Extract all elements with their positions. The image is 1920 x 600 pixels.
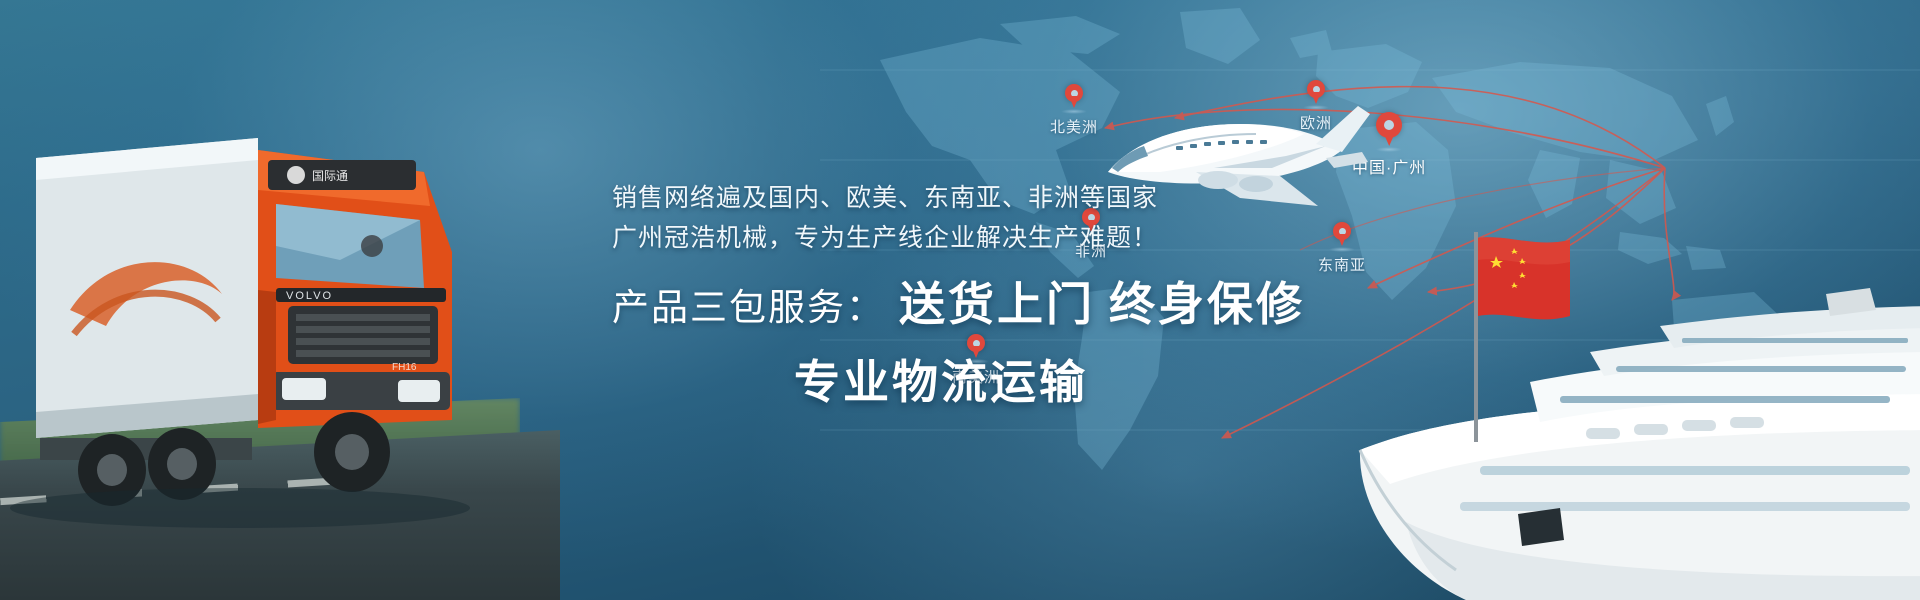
location-pin-icon — [1376, 112, 1402, 146]
delivery-truck-image: 国际通 VOLVO — [0, 120, 520, 600]
headline-lead-text: 产品三包服务： — [612, 277, 885, 331]
svg-text:FH16: FH16 — [392, 362, 417, 373]
headline-strong-delivery: 送货上门 — [899, 268, 1095, 334]
banner-subline-2: 广州冠浩机械，专为生产线企业解决生产难题！ — [612, 218, 1305, 258]
pin-shadow — [1329, 247, 1355, 252]
headline-strong-logistics: 专业物流运输 — [794, 346, 1088, 412]
logistics-hero-banner: 北美洲 欧洲 中国·广州 非洲 东南亚 南美洲 — [0, 0, 1920, 600]
banner-subline-1: 销售网络遍及国内、欧美、东南亚、非洲等国家 — [612, 178, 1305, 218]
banner-headline-row-1: 产品三包服务： 送货上门 终身保修 — [612, 268, 1305, 334]
china-flag-image — [1470, 232, 1580, 442]
banner-headline-row-2: 专业物流运输 — [794, 346, 1305, 412]
pin-shadow — [1376, 147, 1402, 152]
headline-strong-warranty: 终身保修 — [1109, 268, 1305, 334]
banner-copy-block: 销售网络遍及国内、欧美、东南亚、非洲等国家 广州冠浩机械，专为生产线企业解决生产… — [612, 178, 1305, 412]
pin-shadow — [1061, 109, 1087, 114]
location-pin-icon — [1065, 84, 1083, 108]
svg-text:VOLVO: VOLVO — [286, 290, 333, 302]
svg-text:国际通: 国际通 — [312, 169, 348, 183]
